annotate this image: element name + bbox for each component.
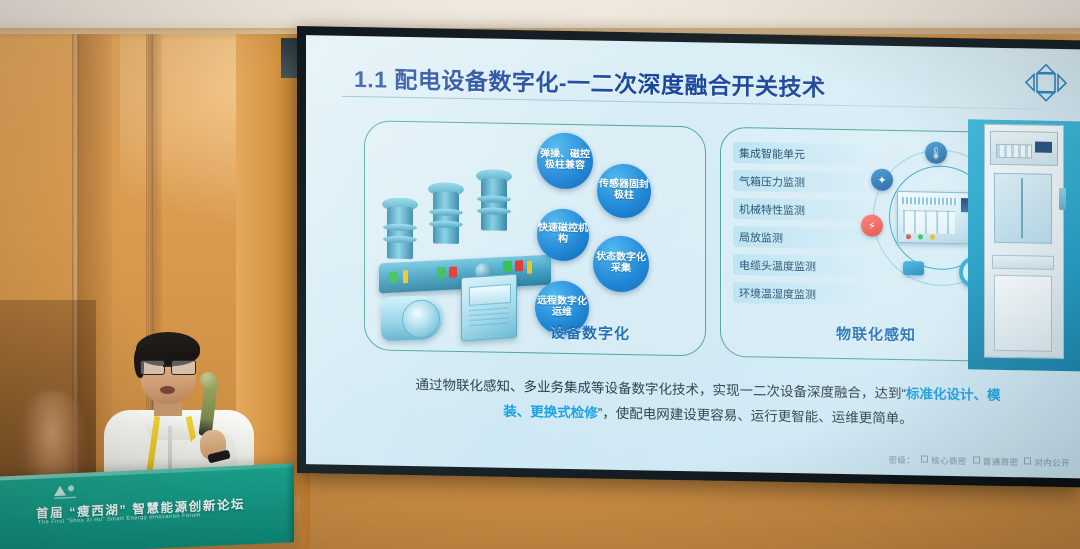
bubble-label[interactable]: 状态数字化采集 bbox=[593, 235, 649, 292]
confidentiality-option[interactable]: 普通商密 bbox=[983, 457, 1019, 468]
speaker-mouth bbox=[160, 386, 175, 394]
list-item[interactable]: 机械特性监测 bbox=[733, 198, 865, 221]
podium: 首届 “瘦西湖” 智慧能源创新论坛 The First "Shou Xi Hu"… bbox=[0, 463, 294, 549]
confidentiality-label: 密级： bbox=[888, 455, 915, 465]
photo-scene: 1.1 配电设备数字化-一二次深度融合开关技术 bbox=[0, 0, 1080, 549]
summary-line2-post: ，使配电网建设更容易、运行更智能、运维更简单。 bbox=[602, 406, 913, 427]
switchgear-cabinet-photo bbox=[984, 124, 1064, 359]
summary-highlight-2: 装、更换式检修 bbox=[503, 404, 598, 421]
circuit-breaker-illustration bbox=[375, 155, 555, 308]
bubble-label[interactable]: 快速磁控机构 bbox=[537, 208, 589, 261]
slide-title: 1.1 配电设备数字化-一二次深度融合开关技术 bbox=[354, 60, 826, 103]
checkbox-icon[interactable] bbox=[921, 455, 928, 462]
right-panel-caption: 物联化感知 bbox=[836, 323, 916, 345]
summary-line1-pre: 通过物联化感知、多业务集成等设备数字化技术，实现一二次设备深度融合，达到 bbox=[416, 377, 902, 401]
sensing-item-list: 集成智能单元 气箱压力监测 机械特性监测 局放监测 电缆头温度监测 环境温湿度监… bbox=[733, 142, 865, 312]
list-item[interactable]: 气箱压力监测 bbox=[733, 170, 865, 193]
left-panel-device-digitization: 弹操、磁控极柱兼容 传感器固封极柱 快速磁控机构 状态数字化采集 远程数字化运维 bbox=[364, 120, 706, 356]
bubble-label[interactable]: 弹操、磁控极柱兼容 bbox=[537, 132, 593, 189]
left-panel-caption: 设备数字化 bbox=[550, 322, 630, 344]
confidentiality-option[interactable]: 核心商密 bbox=[931, 456, 967, 467]
shirt-placket bbox=[168, 426, 172, 474]
podium-right-edge bbox=[286, 463, 294, 542]
bubble-label[interactable]: 传感器固封极柱 bbox=[597, 163, 651, 218]
breaker-pole-3 bbox=[475, 169, 513, 170]
bluetooth-icon: ✦ bbox=[871, 169, 893, 191]
breaker-pole-1 bbox=[381, 198, 419, 199]
list-item[interactable]: 电缆头温度监测 bbox=[733, 254, 865, 277]
sensor-pole-cylinder bbox=[381, 295, 443, 341]
checkbox-icon[interactable] bbox=[1024, 457, 1031, 464]
thermometer-icon: 🌡 bbox=[925, 142, 947, 164]
presentation-screen[interactable]: 1.1 配电设备数字化-一二次深度融合开关技术 bbox=[297, 26, 1080, 487]
summary-paragraph: 通过物联化感知、多业务集成等设备数字化技术，实现一二次设备深度融合，达到“标准化… bbox=[350, 372, 1066, 435]
list-item[interactable]: 环境温湿度监测 bbox=[733, 282, 865, 305]
slide-content: 1.1 配电设备数字化-一二次深度融合开关技术 bbox=[306, 35, 1080, 478]
summary-highlight-1: 标准化设计、模 bbox=[906, 386, 1001, 403]
ftu-terminal-box bbox=[461, 274, 517, 342]
diamond-arrows-logo-icon bbox=[1024, 62, 1068, 103]
forum-logo-icon bbox=[52, 483, 78, 500]
confidentiality-option[interactable]: 对内公开 bbox=[1034, 458, 1070, 469]
checkbox-icon[interactable] bbox=[973, 456, 980, 463]
confidentiality-footer: 密级：核心商密普通商密对内公开 bbox=[888, 454, 1070, 469]
glasses-icon bbox=[140, 360, 196, 373]
breaker-pole-2 bbox=[427, 182, 465, 183]
list-item[interactable]: 集成智能单元 bbox=[733, 142, 865, 165]
lightning-bolt-icon: ⚡ bbox=[861, 214, 883, 236]
list-item[interactable]: 局放监测 bbox=[733, 226, 865, 249]
chip-icon bbox=[903, 261, 924, 275]
